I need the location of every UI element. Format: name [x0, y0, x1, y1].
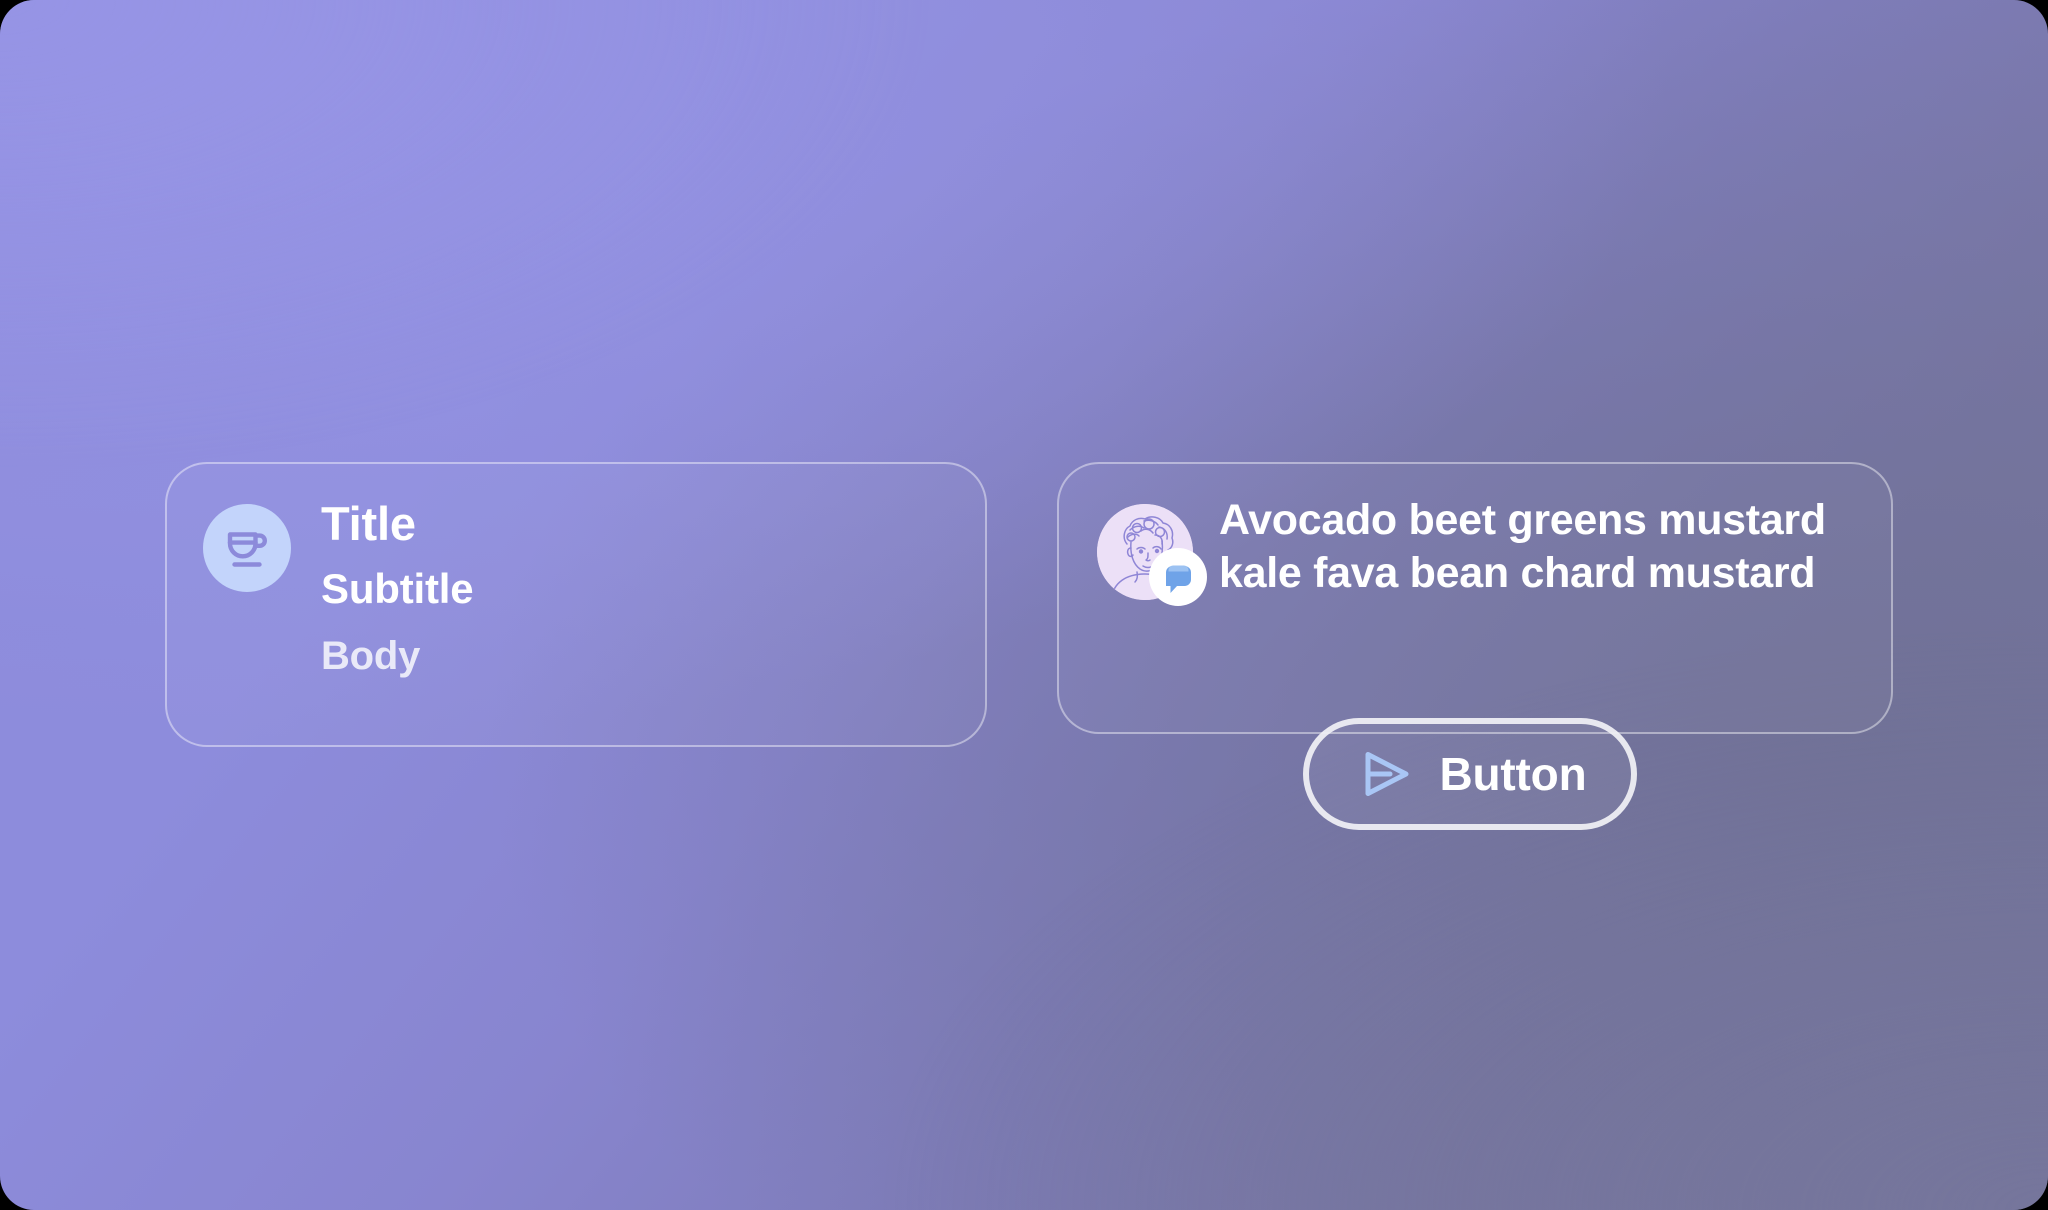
avatar	[1097, 504, 1193, 600]
send-button[interactable]: Button	[1303, 718, 1637, 830]
coffee-cup-icon-container	[203, 504, 291, 592]
card-title: Title	[321, 500, 473, 548]
info-card-text-block: Title Subtitle Body	[321, 500, 473, 676]
card-body: Body	[321, 636, 473, 676]
info-card[interactable]: Title Subtitle Body	[165, 462, 987, 747]
send-triangle-icon	[1354, 743, 1416, 805]
message-card-text: Avocado beet greens mustard kale fava be…	[1219, 494, 1839, 600]
speech-bubble-badge-icon	[1149, 548, 1207, 606]
message-card[interactable]: Avocado beet greens mustard kale fava be…	[1057, 462, 1893, 734]
send-button-label: Button	[1440, 751, 1587, 797]
coffee-cup-icon	[219, 520, 275, 576]
card-subtitle: Subtitle	[321, 568, 473, 610]
canvas-stage: Title Subtitle Body	[0, 0, 2048, 1210]
